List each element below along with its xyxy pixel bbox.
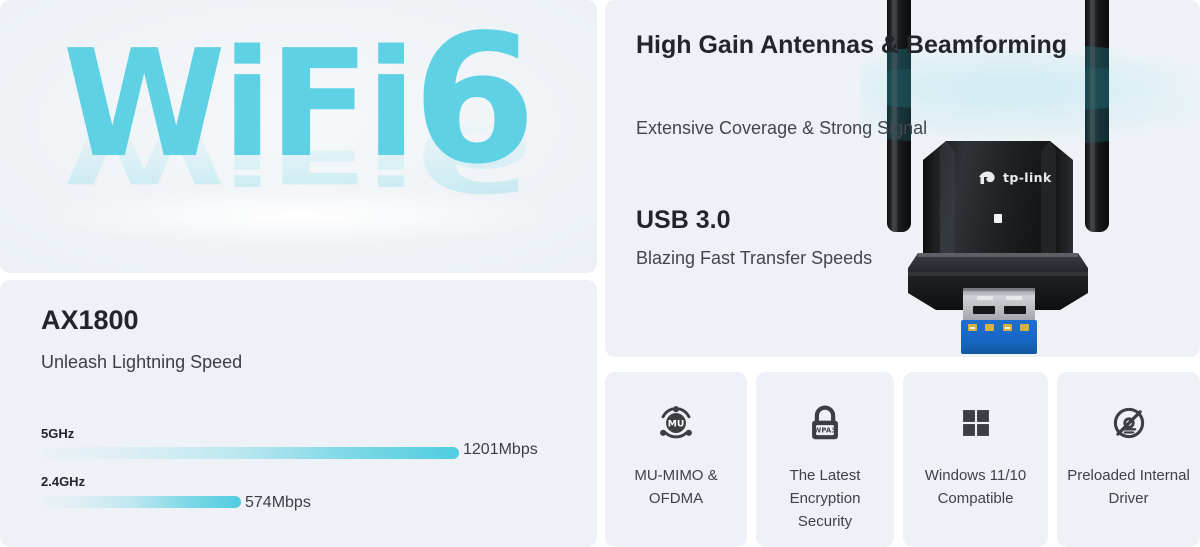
speed-bar-24ghz	[41, 496, 241, 508]
band-label-5ghz: 5GHz	[41, 426, 74, 441]
band-label-24ghz: 2.4GHz	[41, 474, 85, 489]
promo-banner: WiFi6 WiFi6 AX1800 Unleash Lightning Spe…	[0, 0, 1200, 547]
wifi6-logo: WiFi6 WiFi6	[0, 0, 597, 273]
wifi6-reflection-word: WiFi	[63, 106, 413, 201]
mu-mimo-icon: MU	[653, 400, 699, 446]
feature-card-mu-mimo[interactable]: MU MU-MIMO & OFDMA	[605, 372, 747, 547]
feature-card-driver[interactable]: Preloaded Internal Driver	[1057, 372, 1200, 547]
speed-bar-24ghz-fill	[41, 496, 241, 508]
antenna-feature-heading: High Gain Antennas & Beamforming	[636, 29, 1067, 61]
wifi6-hero-panel: WiFi6 WiFi6	[0, 0, 597, 273]
usb-feature-body: Blazing Fast Transfer Speeds	[636, 246, 872, 271]
speed-value-5ghz: 1201Mbps	[463, 441, 538, 459]
wifi6-logo-reflection: WiFi6	[0, 112, 597, 196]
mu-mimo-icon-text: MU	[668, 419, 685, 430]
feature-card-windows[interactable]: Windows 11/10 Compatible	[903, 372, 1048, 547]
feature-card-driver-label: Preloaded Internal Driver	[1063, 464, 1194, 510]
ax1800-title: AX1800	[41, 305, 139, 336]
wpa3-icon-text: WPA3	[814, 427, 837, 435]
feature-card-mu-mimo-label: MU-MIMO & OFDMA	[611, 464, 741, 510]
windows-logo-icon	[953, 400, 999, 446]
feature-card-windows-label: Windows 11/10 Compatible	[909, 464, 1042, 510]
speed-bar-5ghz	[41, 447, 459, 459]
feature-card-wpa3-label: The Latest Encryption Security	[762, 464, 888, 533]
speed-value-24ghz: 574Mbps	[245, 494, 311, 512]
no-disc-driver-icon	[1106, 400, 1152, 446]
speed-bar-5ghz-fill	[41, 447, 459, 459]
feature-card-wpa3[interactable]: WPA3 The Latest Encryption Security	[756, 372, 894, 547]
antenna-feature-body: Extensive Coverage & Strong Signal	[636, 116, 927, 141]
wpa3-padlock-icon: WPA3	[802, 400, 848, 446]
wifi6-reflection-number: 6	[412, 99, 534, 213]
usb-feature-heading: USB 3.0	[636, 204, 730, 236]
ax1800-subtitle: Unleash Lightning Speed	[41, 352, 242, 373]
